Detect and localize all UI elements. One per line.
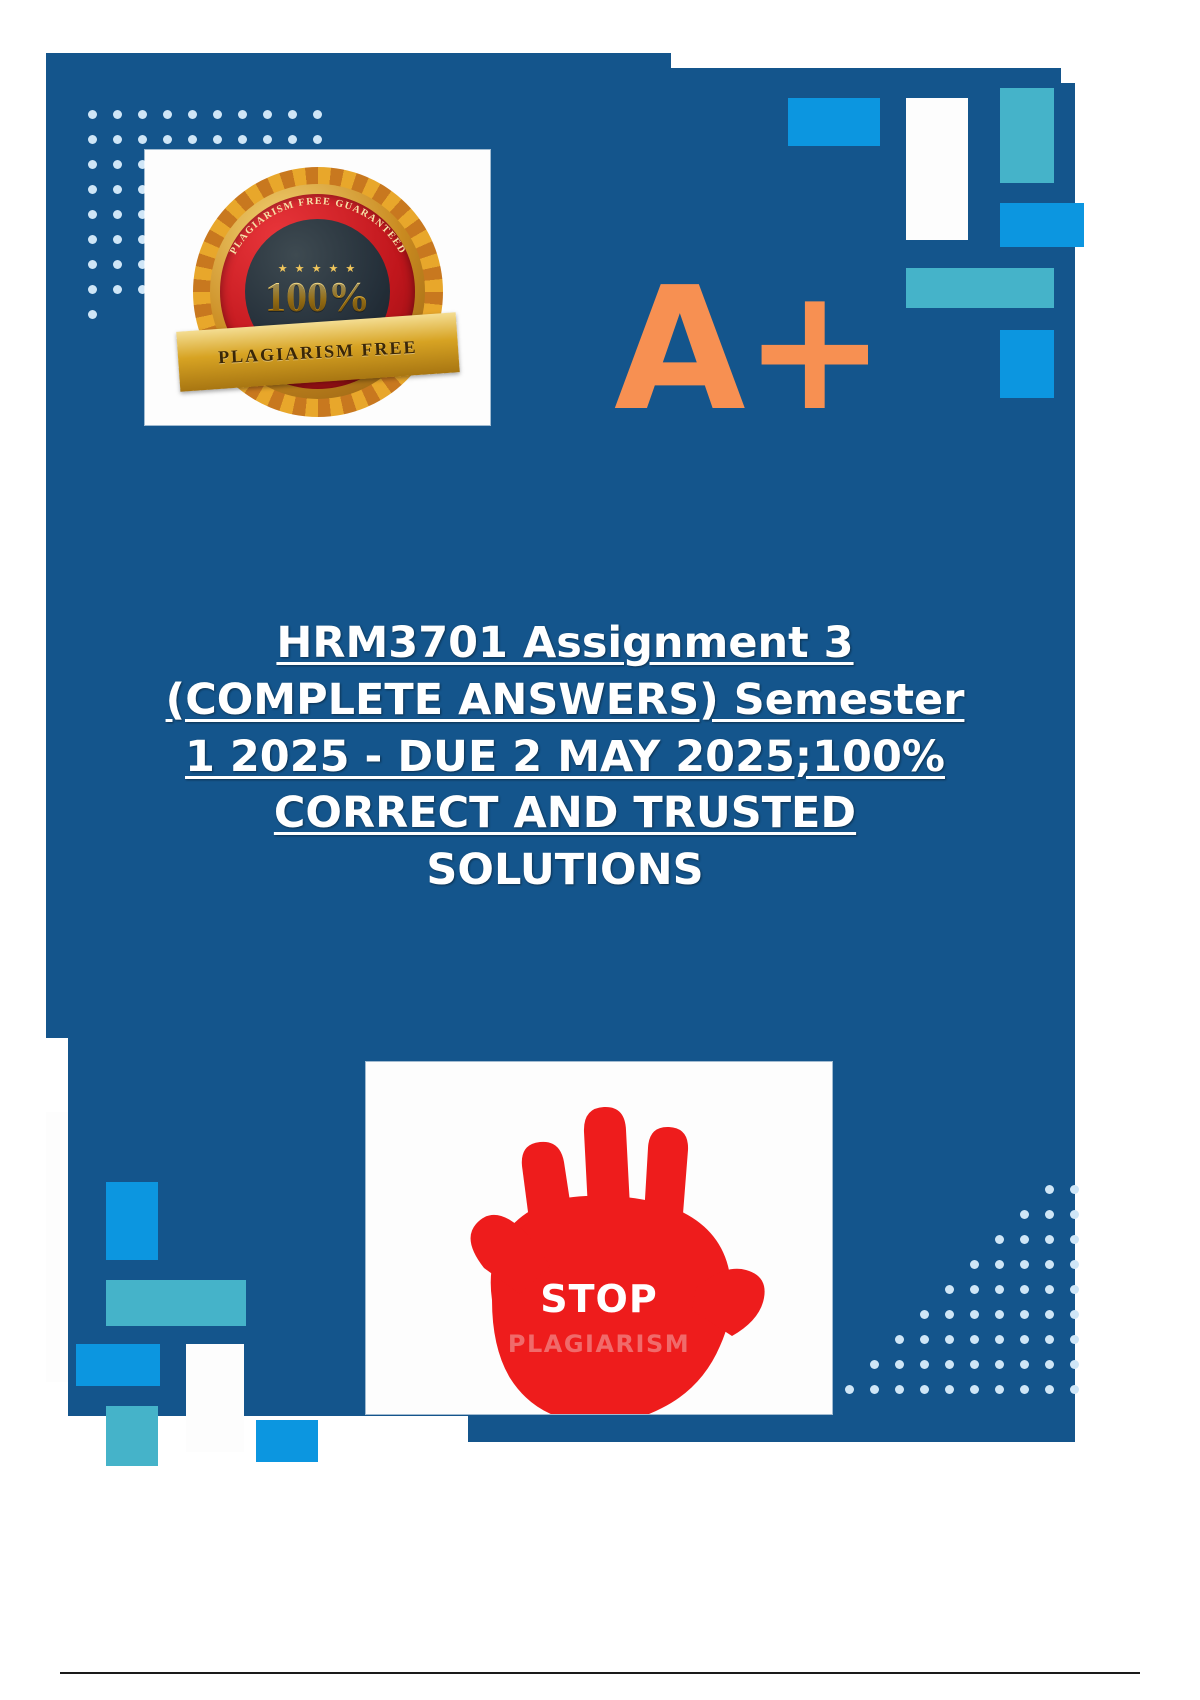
decor-dot bbox=[1045, 1285, 1054, 1294]
decor-dot bbox=[213, 135, 222, 144]
panel-right-ext bbox=[1061, 83, 1075, 435]
decor-dot bbox=[1070, 1335, 1079, 1344]
decor-dot bbox=[970, 1385, 979, 1394]
decor-dot bbox=[188, 135, 197, 144]
decor-rect-white-3 bbox=[186, 1344, 244, 1452]
decor-dot bbox=[970, 1310, 979, 1319]
decor-dot bbox=[1045, 1385, 1054, 1394]
decor-dot bbox=[288, 135, 297, 144]
decor-rect-blue-6 bbox=[256, 1420, 318, 1462]
decor-dot bbox=[995, 1260, 1004, 1269]
stop-label: STOP bbox=[366, 1277, 832, 1321]
decor-dot bbox=[288, 110, 297, 119]
decor-dot bbox=[1045, 1335, 1054, 1344]
stop-plagiarism-card: STOP PLAGIARISM bbox=[366, 1062, 832, 1414]
decor-dot bbox=[920, 1335, 929, 1344]
decor-dot bbox=[313, 110, 322, 119]
decor-dot bbox=[1070, 1235, 1079, 1244]
decor-dot bbox=[995, 1385, 1004, 1394]
decor-dot bbox=[263, 110, 272, 119]
decor-dot bbox=[163, 135, 172, 144]
plagiarism-free-seal: PLAGIARISM FREE GUARANTEED ★ ★ ★ ★ ★ 100… bbox=[193, 167, 443, 417]
title-line-3: 1 2025 - DUE 2 MAY 2025;100% bbox=[60, 729, 1070, 786]
decor-dot bbox=[263, 135, 272, 144]
plagiarism-free-card: PLAGIARISM FREE GUARANTEED ★ ★ ★ ★ ★ 100… bbox=[145, 150, 490, 425]
decor-dot bbox=[1070, 1385, 1079, 1394]
decor-dot bbox=[1045, 1235, 1054, 1244]
decor-dot bbox=[995, 1285, 1004, 1294]
decor-dot bbox=[1045, 1210, 1054, 1219]
decor-dot bbox=[88, 285, 97, 294]
decor-dot bbox=[1020, 1285, 1029, 1294]
decor-dot bbox=[138, 135, 147, 144]
decor-rect-white-2 bbox=[46, 1112, 68, 1382]
decor-dot bbox=[970, 1260, 979, 1269]
decor-dot bbox=[970, 1285, 979, 1294]
decor-dot bbox=[945, 1285, 954, 1294]
decor-dot bbox=[88, 135, 97, 144]
decor-dot bbox=[895, 1360, 904, 1369]
decor-dot bbox=[113, 135, 122, 144]
decor-dot bbox=[1070, 1310, 1079, 1319]
plagiarism-label: PLAGIARISM bbox=[366, 1330, 832, 1358]
decor-dot bbox=[1070, 1210, 1079, 1219]
decor-dot bbox=[945, 1360, 954, 1369]
decor-dot bbox=[870, 1360, 879, 1369]
title-line-2: (COMPLETE ANSWERS) Semester bbox=[60, 672, 1070, 729]
decor-dot bbox=[945, 1310, 954, 1319]
seal-ribbon-label: PLAGIARISM FREE bbox=[217, 336, 417, 367]
title-line-1: HRM3701 Assignment 3 bbox=[60, 615, 1070, 672]
decor-dot bbox=[1045, 1310, 1054, 1319]
decor-rect-white-1 bbox=[906, 98, 968, 240]
decor-dot bbox=[870, 1385, 879, 1394]
decor-dot bbox=[920, 1360, 929, 1369]
decor-dot bbox=[1020, 1335, 1029, 1344]
decor-dot bbox=[88, 210, 97, 219]
decor-dot bbox=[995, 1335, 1004, 1344]
decor-dot bbox=[88, 160, 97, 169]
stop-hand-icon bbox=[366, 1062, 832, 1414]
decor-dot bbox=[845, 1385, 854, 1394]
decor-rect-teal-3 bbox=[106, 1280, 246, 1326]
decor-dot bbox=[945, 1335, 954, 1344]
decor-dot bbox=[113, 235, 122, 244]
decor-dot bbox=[1020, 1385, 1029, 1394]
panel-top-right bbox=[671, 68, 1061, 83]
seal-stars: ★ ★ ★ ★ ★ bbox=[278, 264, 358, 275]
page-title: HRM3701 Assignment 3 (COMPLETE ANSWERS) … bbox=[60, 615, 1070, 899]
decor-dot bbox=[1070, 1285, 1079, 1294]
decor-dot bbox=[163, 110, 172, 119]
decor-dot bbox=[1070, 1360, 1079, 1369]
title-line-4: CORRECT AND TRUSTED bbox=[60, 785, 1070, 842]
decor-dot bbox=[88, 260, 97, 269]
decor-rect-teal-1 bbox=[1000, 88, 1054, 183]
decor-dot bbox=[113, 185, 122, 194]
decor-dot bbox=[1045, 1185, 1054, 1194]
decor-dot bbox=[138, 110, 147, 119]
decor-dot bbox=[113, 285, 122, 294]
decor-rect-blue-4 bbox=[106, 1182, 158, 1260]
decor-dot bbox=[895, 1335, 904, 1344]
decor-dot bbox=[113, 210, 122, 219]
decor-dot bbox=[238, 110, 247, 119]
decor-dot bbox=[1045, 1360, 1054, 1369]
decor-rect-blue-5 bbox=[76, 1344, 160, 1386]
decor-dot bbox=[1070, 1185, 1079, 1194]
decor-dot bbox=[920, 1385, 929, 1394]
decor-dot bbox=[995, 1310, 1004, 1319]
decor-dot bbox=[1020, 1360, 1029, 1369]
decor-dot bbox=[113, 160, 122, 169]
decor-dot bbox=[313, 135, 322, 144]
decor-dot bbox=[238, 135, 247, 144]
document-page: PLAGIARISM FREE GUARANTEED ★ ★ ★ ★ ★ 100… bbox=[0, 0, 1200, 1700]
dot-pattern-bottom-right bbox=[845, 1185, 1095, 1410]
decor-dot bbox=[188, 110, 197, 119]
seal-percent: 100% bbox=[265, 277, 370, 319]
decor-dot bbox=[113, 260, 122, 269]
title-line-5: SOLUTIONS bbox=[60, 842, 1070, 899]
decor-dot bbox=[1020, 1260, 1029, 1269]
decor-dot bbox=[895, 1385, 904, 1394]
decor-rect-blue-3 bbox=[1000, 330, 1054, 398]
decor-dot bbox=[88, 310, 97, 319]
decor-dot bbox=[945, 1385, 954, 1394]
decor-dot bbox=[88, 185, 97, 194]
decor-dot bbox=[1020, 1235, 1029, 1244]
decor-dot bbox=[1045, 1260, 1054, 1269]
decor-rect-teal-2 bbox=[906, 268, 1054, 308]
decor-rect-blue-2 bbox=[1000, 203, 1084, 247]
grade-badge-aplus: A+ bbox=[614, 265, 884, 435]
decor-dot bbox=[1070, 1260, 1079, 1269]
panel-top-left bbox=[46, 53, 671, 83]
decor-rect-teal-4 bbox=[106, 1406, 158, 1466]
decor-rect-blue-1 bbox=[788, 98, 880, 146]
decor-dot bbox=[920, 1310, 929, 1319]
panel-lower-left bbox=[46, 1020, 68, 1038]
decor-dot bbox=[88, 235, 97, 244]
decor-dot bbox=[995, 1360, 1004, 1369]
decor-dot bbox=[970, 1335, 979, 1344]
footer-divider bbox=[60, 1672, 1140, 1674]
decor-dot bbox=[213, 110, 222, 119]
decor-dot bbox=[1020, 1210, 1029, 1219]
decor-dot bbox=[970, 1360, 979, 1369]
decor-dot bbox=[995, 1235, 1004, 1244]
decor-dot bbox=[1020, 1310, 1029, 1319]
decor-dot bbox=[88, 110, 97, 119]
decor-dot bbox=[113, 110, 122, 119]
